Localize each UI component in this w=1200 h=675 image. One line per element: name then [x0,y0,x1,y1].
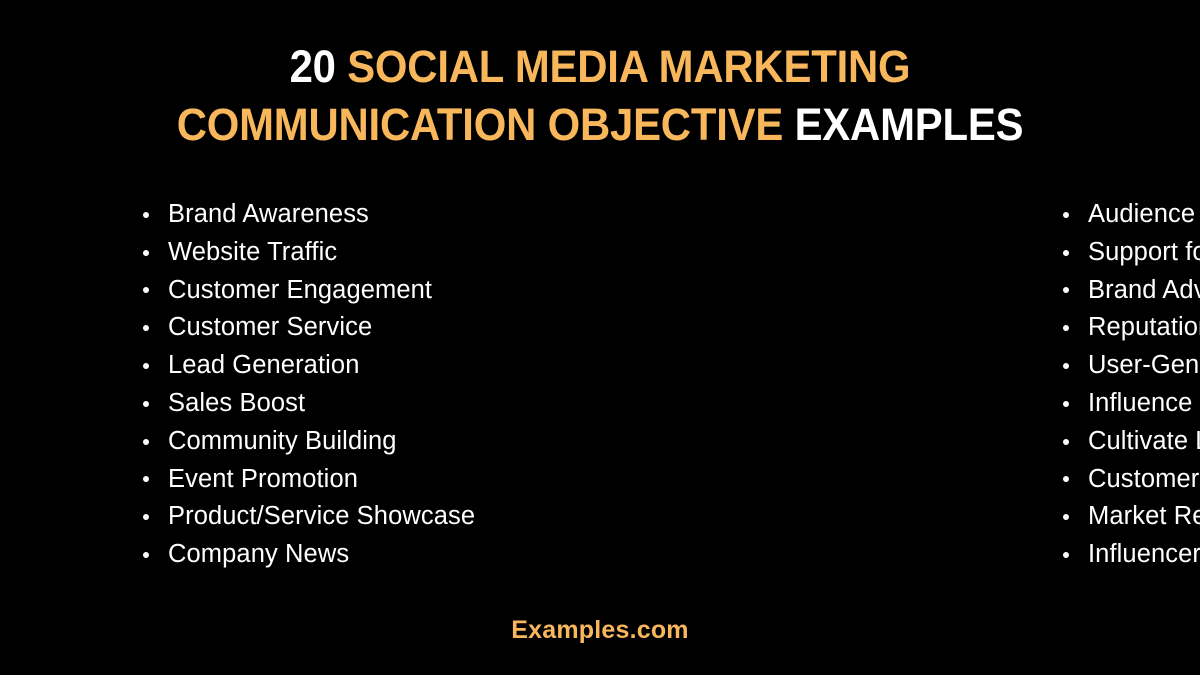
list-item-label: User-Generated Content [1088,347,1200,385]
objectives-column-left: Brand Awareness Website Traffic Customer… [0,196,538,574]
objectives-lists: Brand Awareness Website Traffic Customer… [0,196,1200,574]
list-item-label: Market Research [1088,498,1200,536]
bullet-dot-icon [143,363,149,369]
bullet-dot-icon [143,514,149,520]
title-line-2-accent: COMMUNICATION OBJECTIVE [177,99,783,150]
list-item-label: Brand Awareness [168,196,369,234]
list-item: Customer Engagement [140,272,538,310]
brand-wordmark: Examples.com [511,616,689,644]
list-item-label: Audience Education [1088,196,1200,234]
list-item-label: Event Promotion [168,461,358,499]
bullet-dot-icon [143,476,149,482]
list-item-label: Company News [168,536,349,574]
title-line-2-white: EXAMPLES [795,99,1024,150]
list-item-label: Website Traffic [168,234,337,272]
title-line-1-accent: SOCIAL MEDIA MARKETING [347,41,910,92]
list-item: Sales Boost [140,385,538,423]
list-item-label: Influence Purchase Decisions [1088,385,1200,423]
bullet-dot-icon [1063,363,1069,369]
list-item: Customer Testimonials [1060,461,1200,499]
list-item-label: Brand Advocacy [1088,272,1200,310]
title-count: 20 [290,41,336,92]
bullet-dot-icon [1063,552,1069,558]
list-item: Website Traffic [140,234,538,272]
list-item-label: Reputation Monitoring [1088,309,1200,347]
page-title: 20 SOCIAL MEDIA MARKETING COMMUNICATION … [0,38,1200,154]
title-line-1: 20 SOCIAL MEDIA MARKETING [98,38,1102,96]
list-item-label: Cultivate Loyalty [1088,423,1200,461]
list-item: Market Research [1060,498,1200,536]
list-item: Customer Service [140,309,538,347]
list-item-label: Product/Service Showcase [168,498,475,536]
bullet-list-left: Brand Awareness Website Traffic Customer… [140,196,538,574]
list-item: Cultivate Loyalty [1060,423,1200,461]
bullet-dot-icon [1063,212,1069,218]
list-item: Influencer Collaboration [1060,536,1200,574]
list-item: Influence Purchase Decisions [1060,385,1200,423]
footer: Examples.com [0,616,1200,645]
title-line-2: COMMUNICATION OBJECTIVE EXAMPLES [98,96,1102,154]
bullet-dot-icon [143,212,149,218]
list-item: Lead Generation [140,347,538,385]
bullet-dot-icon [143,439,149,445]
bullet-dot-icon [143,325,149,331]
list-item-label: Customer Engagement [168,272,432,310]
bullet-dot-icon [143,250,149,256]
list-item-label: Lead Generation [168,347,359,385]
objectives-column-right: Audience Education Support for Causes Br… [538,196,1200,574]
bullet-dot-icon [1063,401,1069,407]
bullet-list-right: Audience Education Support for Causes Br… [1060,196,1200,574]
list-item: Community Building [140,423,538,461]
bullet-dot-icon [143,287,149,293]
list-item-label: Community Building [168,423,397,461]
list-item-label: Influencer Collaboration [1088,536,1200,574]
list-item: Brand Advocacy [1060,272,1200,310]
slide-root: 20 SOCIAL MEDIA MARKETING COMMUNICATION … [0,0,1200,675]
bullet-dot-icon [1063,439,1069,445]
list-item-label: Sales Boost [168,385,305,423]
bullet-dot-icon [1063,476,1069,482]
bullet-dot-icon [143,552,149,558]
list-item: Brand Awareness [140,196,538,234]
bullet-dot-icon [143,401,149,407]
list-item: Audience Education [1060,196,1200,234]
list-item-label: Customer Service [168,309,372,347]
list-item: User-Generated Content [1060,347,1200,385]
bullet-dot-icon [1063,250,1069,256]
bullet-dot-icon [1063,325,1069,331]
list-item: Support for Causes [1060,234,1200,272]
list-item: Product/Service Showcase [140,498,538,536]
bullet-dot-icon [1063,514,1069,520]
list-item: Reputation Monitoring [1060,309,1200,347]
list-item-label: Support for Causes [1088,234,1200,272]
bullet-dot-icon [1063,287,1069,293]
list-item: Company News [140,536,538,574]
list-item: Event Promotion [140,461,538,499]
list-item-label: Customer Testimonials [1088,461,1200,499]
